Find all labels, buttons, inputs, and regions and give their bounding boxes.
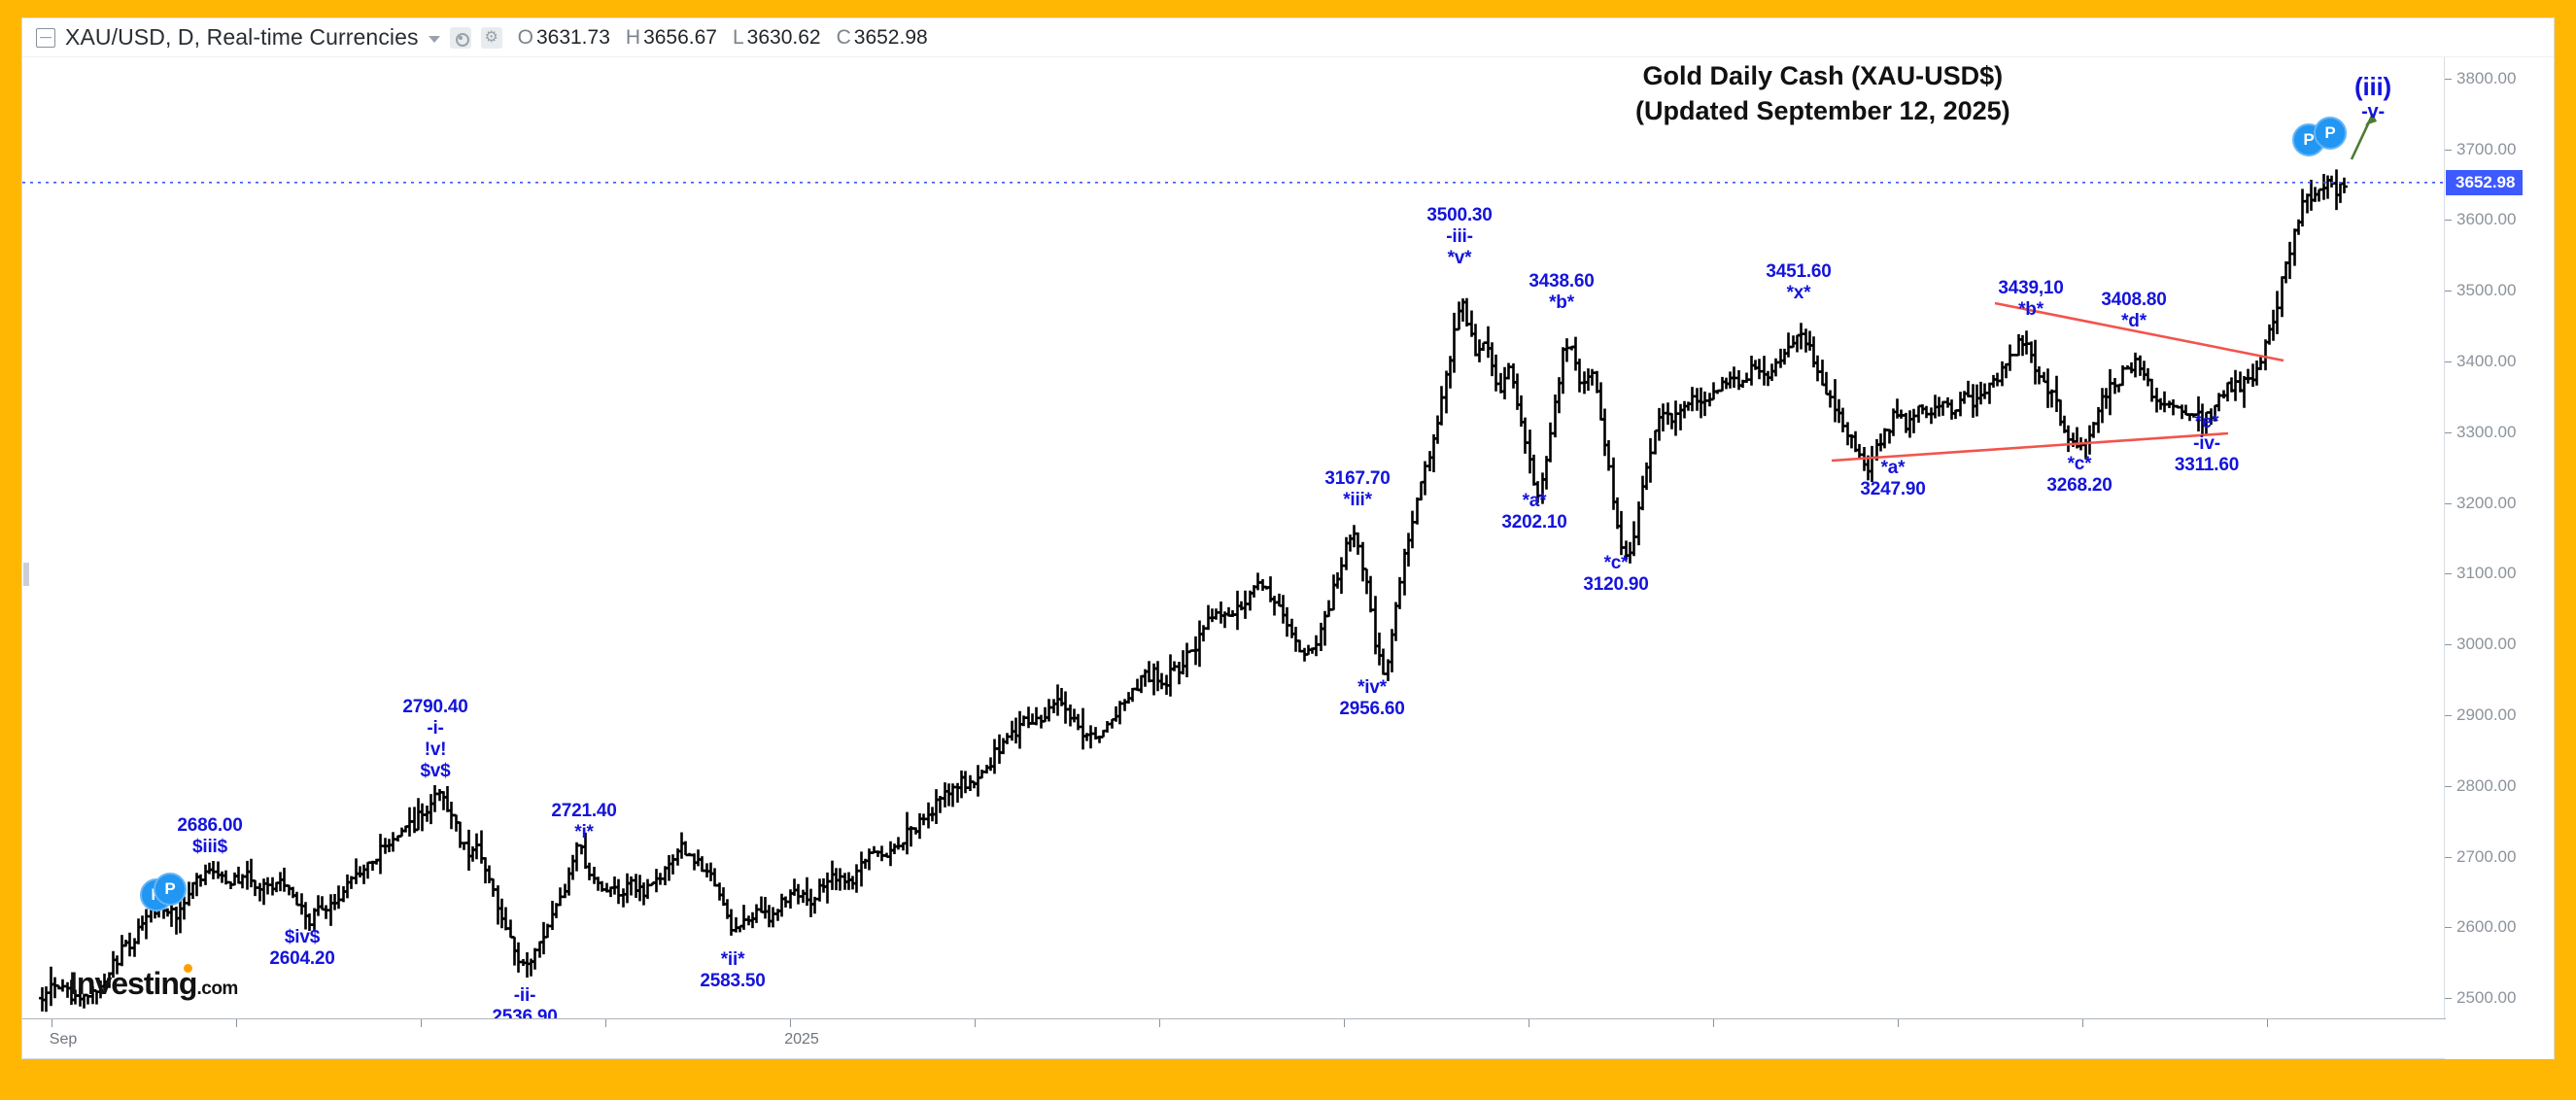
ohlc-bar xyxy=(1443,371,1450,414)
ohlc-bar xyxy=(515,943,522,973)
ohlc-bar xyxy=(126,933,133,957)
ohlc-bar xyxy=(1456,301,1462,329)
time-tick xyxy=(1713,1019,1714,1027)
ohlc-bar xyxy=(566,868,572,896)
ohlc-bar xyxy=(2274,291,2281,334)
ohlc-bar xyxy=(2086,426,2093,455)
ohlc-bar xyxy=(895,837,902,849)
ohlc-bar xyxy=(1196,621,1203,668)
ohlc-bar xyxy=(1948,399,1955,420)
ohlc-bar xyxy=(148,899,155,922)
ohlc-bar xyxy=(644,879,651,900)
time-tick xyxy=(2082,1019,2083,1027)
ohlc-bar xyxy=(670,854,676,875)
ohlc-bar xyxy=(1563,338,1570,361)
ohlc-bar xyxy=(624,874,631,904)
ohlc-bar xyxy=(1121,699,1128,711)
price-tick-3700: 3700.00 xyxy=(2445,140,2516,159)
trendline-triangle-lower[interactable] xyxy=(1832,433,2228,461)
ohlc-bar xyxy=(235,867,242,884)
ohlc-bar xyxy=(766,905,773,927)
ohlc-bar xyxy=(1405,533,1412,567)
ohlc-bar xyxy=(364,862,371,878)
ohlc-bar xyxy=(636,875,643,901)
ohlc-bar xyxy=(269,877,276,896)
ohlc-bar xyxy=(1463,298,1470,327)
ohlc-bar xyxy=(1823,372,1830,395)
ohlc-bar xyxy=(1280,595,1287,624)
ohlc-bar xyxy=(2328,176,2335,188)
time-axis[interactable]: Sep2025 xyxy=(22,1018,2446,1058)
ohlc-bar xyxy=(1062,692,1069,724)
ohlc-bar xyxy=(498,899,505,928)
ohlc-bar xyxy=(1970,384,1976,418)
ohlc-bar xyxy=(1623,540,1630,560)
ohlc-bar xyxy=(1572,337,1579,371)
ohlc-bar xyxy=(1790,335,1797,347)
price-tick-2600: 2600.00 xyxy=(2445,917,2516,937)
record-icon[interactable] xyxy=(450,27,471,49)
time-tick xyxy=(52,1019,52,1027)
ohlc-bar xyxy=(2291,228,2298,265)
price-tick-3000: 3000.00 xyxy=(2445,635,2516,654)
ohlc-bar xyxy=(2337,184,2344,203)
ohlc-bar xyxy=(2032,340,2039,385)
ohlc-bar xyxy=(419,804,426,832)
ohlc-bar xyxy=(357,866,363,877)
ohlc-bar xyxy=(1292,627,1299,652)
projection-arrow-icon xyxy=(2352,114,2377,159)
ohlc-bar xyxy=(1539,472,1546,503)
ohlc-bar xyxy=(2270,310,2277,341)
ohlc-bar xyxy=(707,863,714,881)
ohlc-bar xyxy=(424,806,430,822)
ohlc-bar xyxy=(1184,643,1190,678)
ohlc-bar xyxy=(431,785,438,812)
ohlc-open-value: 3631.73 xyxy=(536,26,610,49)
ohlc-bar xyxy=(160,906,167,919)
trendline-triangle-upper[interactable] xyxy=(1995,303,2284,361)
ohlc-bar xyxy=(1033,707,1040,726)
ohlc-bar xyxy=(1756,359,1763,379)
ohlc-bar xyxy=(1981,384,1988,399)
ohlc-bar xyxy=(2299,189,2306,226)
ohlc-low-key: L xyxy=(733,26,744,49)
ohlc-bar xyxy=(933,789,940,824)
ohlc-bar xyxy=(1803,328,1809,353)
ohlc-bar xyxy=(1994,373,2001,387)
ohlc-bar xyxy=(591,867,598,884)
ohlc-bar xyxy=(1113,706,1119,722)
ohlc-bar xyxy=(1104,721,1111,733)
ohlc-bar xyxy=(954,783,961,803)
ohlc-bar xyxy=(135,918,142,945)
ohlc-bar xyxy=(1999,361,2006,387)
price-tick-2500: 2500.00 xyxy=(2445,988,2516,1008)
ohlc-low-value: 3630.62 xyxy=(747,26,821,49)
ohlc-bar xyxy=(962,771,969,793)
ohlc-bar xyxy=(1080,708,1086,750)
ohlc-bar xyxy=(1146,661,1152,682)
ohlc-bar xyxy=(2245,369,2251,384)
ohlc-bar xyxy=(1154,661,1161,691)
ohlc-bar xyxy=(2203,412,2210,434)
ohlc-bar xyxy=(2253,361,2260,386)
ohlc-bar xyxy=(390,832,396,851)
ohlc-bar xyxy=(1067,705,1074,727)
ohlc-bar xyxy=(987,757,994,771)
price-tick-2900: 2900.00 xyxy=(2445,705,2516,725)
ohlc-close: C3652.98 xyxy=(837,26,928,50)
ohlc-bar xyxy=(1701,392,1708,416)
ohlc-bar xyxy=(1957,392,1964,416)
ohlc-bar xyxy=(1042,707,1048,722)
ohlc-bar xyxy=(1434,416,1441,444)
price-tick-3500: 3500.00 xyxy=(2445,281,2516,300)
ohlc-bar xyxy=(1772,359,1779,377)
page-title: Gold Daily Cash (XAU-USD$) (Updated Sept… xyxy=(1635,59,2010,129)
ohlc-bar xyxy=(620,888,627,908)
symbol-title[interactable]: XAU/USD, D, Real-time Currencies xyxy=(65,24,419,51)
ohlc-bar xyxy=(52,978,58,999)
ohlc-bar xyxy=(1856,444,1863,459)
ohlc-bar xyxy=(800,890,807,904)
ohlc-bar xyxy=(967,775,974,791)
ohlc-bar xyxy=(1359,542,1366,582)
ohlc-bar xyxy=(1547,423,1554,463)
ohlc-bar xyxy=(1355,533,1361,555)
price-tick-3100: 3100.00 xyxy=(2445,564,2516,583)
ohlc-bar xyxy=(837,868,843,890)
ohlc-bar xyxy=(778,894,785,917)
ohlc-bar xyxy=(1213,608,1219,620)
ohlc-bar xyxy=(1986,383,1993,404)
ohlc-bar xyxy=(1234,591,1241,630)
ohlc-bar xyxy=(2250,363,2256,387)
ohlc-bar xyxy=(1209,608,1216,622)
ohlc-bar xyxy=(1836,399,1842,424)
ohlc-bar xyxy=(1560,347,1566,394)
ohlc-bar xyxy=(1631,521,1637,556)
ohlc-bar xyxy=(1965,381,1972,397)
ohlc-bar xyxy=(2212,405,2218,422)
ohlc-bar xyxy=(853,864,860,892)
ohlc-open: O3631.73 xyxy=(518,26,610,50)
ohlc-bar xyxy=(1974,385,1980,417)
ohlc-bar xyxy=(1647,438,1654,483)
ohlc-bar xyxy=(666,855,672,881)
ohlc-bar xyxy=(942,782,948,808)
ohlc-bar xyxy=(43,986,50,1012)
ohlc-bar xyxy=(824,873,831,904)
ohlc-bar xyxy=(770,908,776,928)
ohlc-bar xyxy=(502,908,509,931)
ohlc-bar xyxy=(1910,409,1917,433)
ohlc-bar xyxy=(1485,327,1492,359)
ohlc-bar xyxy=(586,863,593,880)
ohlc-bar xyxy=(891,843,898,854)
ohlc-bar xyxy=(791,878,798,896)
ohlc-bar xyxy=(1476,339,1483,362)
ohlc-bar xyxy=(2341,178,2348,193)
ohlc-bar xyxy=(1990,375,1997,388)
ohlc-bar xyxy=(1798,323,1804,349)
ohlc-low: L3630.62 xyxy=(733,26,821,50)
ohlc-bar xyxy=(353,858,360,884)
ohlc-bar xyxy=(1585,368,1592,391)
ohlc-bar xyxy=(1259,579,1266,591)
ohlc-bar xyxy=(340,886,347,902)
ohlc-bar xyxy=(1501,367,1508,399)
ohlc-bar xyxy=(1158,673,1165,690)
ohlc-bar xyxy=(1761,356,1768,386)
ohlc-bar xyxy=(1347,534,1354,552)
price-tick-3400: 3400.00 xyxy=(2445,352,2516,371)
ohlc-bar xyxy=(440,791,447,810)
ohlc-open-key: O xyxy=(518,26,533,49)
ohlc-bar xyxy=(1601,409,1608,457)
ohlc-bar xyxy=(1597,382,1604,420)
time-tick xyxy=(2267,1019,2268,1027)
ohlc-bar xyxy=(168,897,175,927)
ohlc-bar xyxy=(277,872,284,891)
ohlc-bar xyxy=(335,885,342,909)
ohlc-bar xyxy=(958,771,965,799)
ohlc-bar xyxy=(762,897,769,918)
ohlc-bars xyxy=(39,169,2348,1012)
ohlc-bar xyxy=(2148,379,2155,402)
ohlc-bar xyxy=(473,834,480,860)
ohlc-bar xyxy=(1819,360,1826,386)
time-tick xyxy=(1159,1019,1160,1027)
ohlc-bar xyxy=(1844,422,1851,445)
ohlc-bar xyxy=(1380,649,1387,675)
time-tick xyxy=(1528,1019,1529,1027)
ohlc-bar xyxy=(1392,602,1399,641)
ohlc-bar xyxy=(904,812,910,855)
ohlc-bar xyxy=(495,885,501,924)
ohlc-bar xyxy=(131,938,138,956)
ohlc-bar xyxy=(1672,400,1679,435)
ohlc-bar xyxy=(2304,193,2311,213)
ohlc-bar xyxy=(536,942,543,958)
ohlc-bar xyxy=(2145,368,2151,387)
ohlc-bar xyxy=(695,849,702,866)
ohlc-bar xyxy=(1418,482,1425,500)
price-tick-3600: 3600.00 xyxy=(2445,210,2516,229)
ohlc-bar xyxy=(490,878,497,897)
ohlc-bar xyxy=(1367,576,1374,613)
ohlc-bar xyxy=(428,794,434,824)
ohlc-bar xyxy=(1614,498,1621,530)
chart-frame: XAU/USD, D, Real-time Currencies O3631.7… xyxy=(21,17,2555,1059)
ohlc-bar xyxy=(377,834,384,874)
ohlc-bar xyxy=(1376,633,1383,666)
ohlc-bar xyxy=(1414,498,1421,525)
ohlc-close-value: 3652.98 xyxy=(854,26,928,49)
ohlc-bar xyxy=(1330,574,1337,610)
ohlc-bar xyxy=(1489,342,1495,376)
ohlc-bar xyxy=(1284,607,1290,636)
logo-name: Investing xyxy=(69,966,196,1001)
ohlc-bar xyxy=(1794,335,1801,353)
ohlc-bar xyxy=(1639,476,1646,510)
ohlc-bar xyxy=(2195,396,2202,431)
ohlc-bar xyxy=(758,897,765,913)
ohlc-bar xyxy=(795,884,802,905)
ohlc-bar xyxy=(1472,324,1479,356)
ohlc-bar xyxy=(298,893,305,914)
ohlc-bar xyxy=(1451,313,1458,373)
ohlc-bar xyxy=(444,786,451,812)
time-tick xyxy=(790,1019,791,1027)
ohlc-bar xyxy=(1288,619,1295,638)
ohlc-bar xyxy=(916,813,923,839)
ohlc-bar xyxy=(733,917,739,933)
ohlc-bar xyxy=(1832,379,1838,422)
time-tick xyxy=(236,1019,237,1027)
ohlc-bar xyxy=(1530,455,1537,486)
ohlc-bar xyxy=(1218,602,1224,624)
ohlc-bar xyxy=(1016,711,1023,749)
ohlc-bar xyxy=(248,859,255,887)
ohlc-bar xyxy=(711,868,718,886)
ohlc-bar xyxy=(611,877,618,895)
ohlc-bar xyxy=(189,882,196,899)
ohlc-bar xyxy=(1660,403,1666,431)
ohlc-bar xyxy=(2015,334,2022,356)
logo-dot-icon xyxy=(184,964,192,973)
logo-suffix: .com xyxy=(196,979,237,999)
ohlc-bar xyxy=(2128,362,2135,373)
ohlc-bar xyxy=(753,905,760,923)
ohlc-bar xyxy=(1869,446,1875,482)
ohlc-bar xyxy=(2132,353,2139,378)
ohlc-bar xyxy=(507,919,514,938)
ohlc-bar xyxy=(1318,623,1324,651)
ohlc-bar xyxy=(1977,382,1984,404)
ohlc-bar xyxy=(152,900,158,918)
ohlc-bar xyxy=(2141,361,2147,380)
ohlc-bar xyxy=(286,885,292,896)
ohlc-bar xyxy=(257,883,263,902)
ohlc-bar xyxy=(740,905,747,930)
ohlc-bar xyxy=(465,830,472,871)
ohlc-bar xyxy=(1694,388,1700,410)
price-series-svg xyxy=(22,57,2446,1019)
time-tick xyxy=(605,1019,606,1027)
ohlc-bar xyxy=(1409,511,1416,549)
ohlc-bar xyxy=(327,894,334,926)
ohlc-bar xyxy=(1748,356,1755,386)
price-tick-2700: 2700.00 xyxy=(2445,847,2516,867)
ohlc-bar xyxy=(48,967,54,1006)
ohlc-bar xyxy=(2279,276,2285,317)
ohlc-bar xyxy=(749,912,756,928)
ohlc-bar xyxy=(633,874,639,898)
ohlc-high-value: 3656.67 xyxy=(643,26,717,49)
ohlc-bar xyxy=(1167,654,1174,696)
ohlc-bar xyxy=(582,833,589,869)
price-tick-2800: 2800.00 xyxy=(2445,776,2516,796)
ohlc-bar xyxy=(678,833,685,859)
ohlc-bar xyxy=(653,869,660,892)
ohlc-bar xyxy=(2316,189,2322,201)
ohlc-bar xyxy=(1944,397,1951,408)
ohlc-bar xyxy=(2333,169,2340,210)
ohlc-bar xyxy=(1827,391,1834,408)
ohlc-bar xyxy=(1814,356,1821,382)
ohlc-bar xyxy=(640,882,647,906)
ohlc-bar xyxy=(231,873,238,885)
ohlc-bar xyxy=(1719,377,1726,392)
ohlc-bar xyxy=(1522,418,1528,454)
ohlc-bar xyxy=(1351,525,1357,547)
ohlc-bar xyxy=(2041,372,2047,382)
last-price-badge: 3652.98 xyxy=(2446,170,2523,195)
ohlc-bar xyxy=(975,765,981,797)
ohlc-bar xyxy=(219,872,225,883)
collapse-icon[interactable] xyxy=(36,28,55,48)
ohlc-bar xyxy=(1004,733,1011,744)
ohlc-bar xyxy=(1071,708,1078,722)
ohlc-bar xyxy=(1777,349,1784,368)
ohlc-bar xyxy=(361,865,367,884)
ohlc-bar xyxy=(996,735,1003,764)
ohlc-bar xyxy=(293,892,300,906)
ohlc-close-key: C xyxy=(837,26,851,49)
time-tick-label: 2025 xyxy=(784,1031,819,1048)
chevron-down-icon[interactable] xyxy=(429,36,440,43)
ohlc-bar xyxy=(2007,345,2013,371)
ohlc-high-key: H xyxy=(626,26,640,49)
ohlc-bar xyxy=(2232,370,2239,401)
ohlc-bar xyxy=(699,856,705,872)
time-tick-label: Sep xyxy=(50,1031,77,1048)
ohlc-bar xyxy=(1334,572,1341,589)
ohlc-bar xyxy=(2137,356,2144,376)
page-title-line1: Gold Daily Cash (XAU-USD$) xyxy=(1635,59,2010,94)
ohlc-bar xyxy=(1493,355,1499,392)
ohlc-bar xyxy=(878,845,885,861)
ohlc-high: H3656.67 xyxy=(626,26,717,50)
chart-plot-area[interactable] xyxy=(22,57,2446,1019)
ohlc-bar xyxy=(1781,349,1788,364)
time-tick xyxy=(1344,1019,1345,1027)
ohlc-bar xyxy=(177,900,184,934)
ohlc-bar xyxy=(2103,388,2110,409)
ohlc-bar xyxy=(244,861,251,890)
ohlc-bar xyxy=(210,861,217,879)
price-tick-3300: 3300.00 xyxy=(2445,423,2516,442)
ohlc-bar xyxy=(569,855,576,880)
ohlc-bar xyxy=(1743,373,1750,384)
ohlc-bar xyxy=(2308,180,2315,211)
ohlc-bar xyxy=(181,897,188,920)
ohlc-bar xyxy=(1839,408,1846,432)
ohlc-bar xyxy=(344,875,351,899)
ohlc-bar xyxy=(991,739,998,774)
ohlc-bar xyxy=(1534,481,1541,503)
ohlc-bar xyxy=(682,842,689,855)
price-axis[interactable]: 3800.003700.003600.003500.003400.003300.… xyxy=(2444,57,2554,1059)
ohlc-bar xyxy=(1806,331,1813,351)
ohlc-bar xyxy=(1594,371,1600,394)
ohlc-bar xyxy=(804,877,810,906)
ohlc-bar xyxy=(119,935,125,966)
gear-icon[interactable] xyxy=(481,27,502,49)
ohlc-bar xyxy=(2237,371,2244,392)
